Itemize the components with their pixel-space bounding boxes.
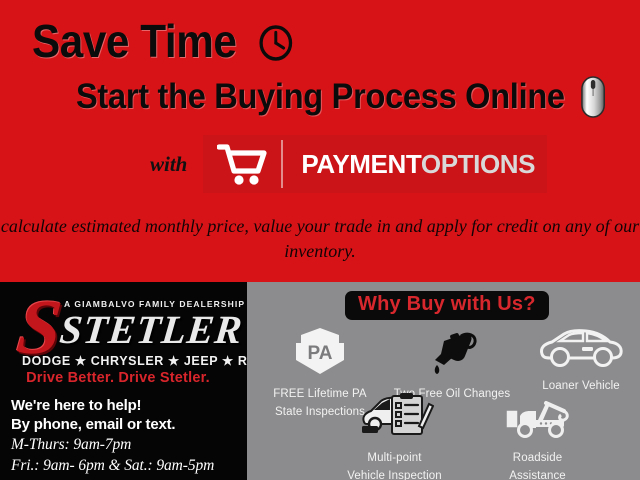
- feature-multipoint-inspection: Multi-point Vehicle Inspection: [322, 392, 467, 480]
- hero-headline-line1: Save Time: [32, 14, 294, 74]
- dealer-name: STETLER: [58, 308, 245, 352]
- dealer-logo: S A GIAMBALVO FAMILY DEALERSHIP STETLER …: [0, 282, 247, 387]
- mouse-icon: [581, 76, 605, 127]
- hero-headline-line1-text: Save Time: [32, 15, 236, 67]
- hero-headline-line2: Start the Buying Process Online: [76, 76, 605, 127]
- hours-line-2: Fri.: 9am- 6pm & Sat.: 9am-5pm: [11, 455, 247, 476]
- oil-can-icon: [377, 332, 527, 381]
- with-label: with: [150, 152, 187, 177]
- feature-roadside-assistance: Roadside Assistance: [475, 394, 600, 480]
- hero-headline-line2-text: Start the Buying Process Online: [76, 77, 565, 116]
- svg-text:PA: PA: [308, 343, 333, 364]
- hero-panel: Save Time Start the Buying Process Onlin…: [0, 0, 640, 282]
- hero-subcopy: calculate estimated monthly price, value…: [0, 214, 640, 264]
- payment-options-lockup: with PAYMENTOPTIONS: [150, 133, 547, 195]
- feature-label: Loaner Vehicle: [542, 380, 620, 392]
- wordmark-options: OPTIONS: [421, 149, 535, 179]
- dealer-slogan: Drive Better. Drive Stetler.: [0, 370, 236, 386]
- feature-label: Multi-point Vehicle Inspection: [347, 452, 442, 480]
- hours-line-1: M-Thurs: 9am-7pm: [11, 434, 247, 455]
- vertical-divider: [281, 140, 283, 188]
- why-buy-panel: Why Buy with Us? PA FREE Lifetime PA Sta…: [247, 282, 640, 480]
- contact-line-1: We're here to help!: [11, 396, 247, 415]
- car-icon: [522, 326, 640, 373]
- why-buy-badge: Why Buy with Us?: [345, 291, 549, 320]
- contact-line-2: By phone, email or text.: [11, 415, 247, 434]
- feature-label: Roadside Assistance: [509, 452, 566, 480]
- payment-options-wordmark: PAYMENTOPTIONS: [301, 149, 535, 180]
- tow-truck-icon: [475, 394, 600, 445]
- payment-options-badge: PAYMENTOPTIONS: [203, 135, 547, 193]
- wordmark-payment: PAYMENT: [301, 149, 421, 179]
- advertisement-banner: Save Time Start the Buying Process Onlin…: [0, 0, 640, 480]
- shopping-cart-icon: [213, 138, 271, 190]
- clock-icon: [257, 20, 294, 74]
- dealer-brands: DODGE ★ CHRYSLER ★ JEEP ★ RAM: [22, 353, 227, 368]
- feature-loaner-vehicle: Loaner Vehicle: [522, 326, 640, 394]
- contact-block: We're here to help! By phone, email or t…: [11, 396, 247, 476]
- pa-keystone-icon: PA: [255, 326, 385, 381]
- clipboard-car-icon: [322, 392, 467, 445]
